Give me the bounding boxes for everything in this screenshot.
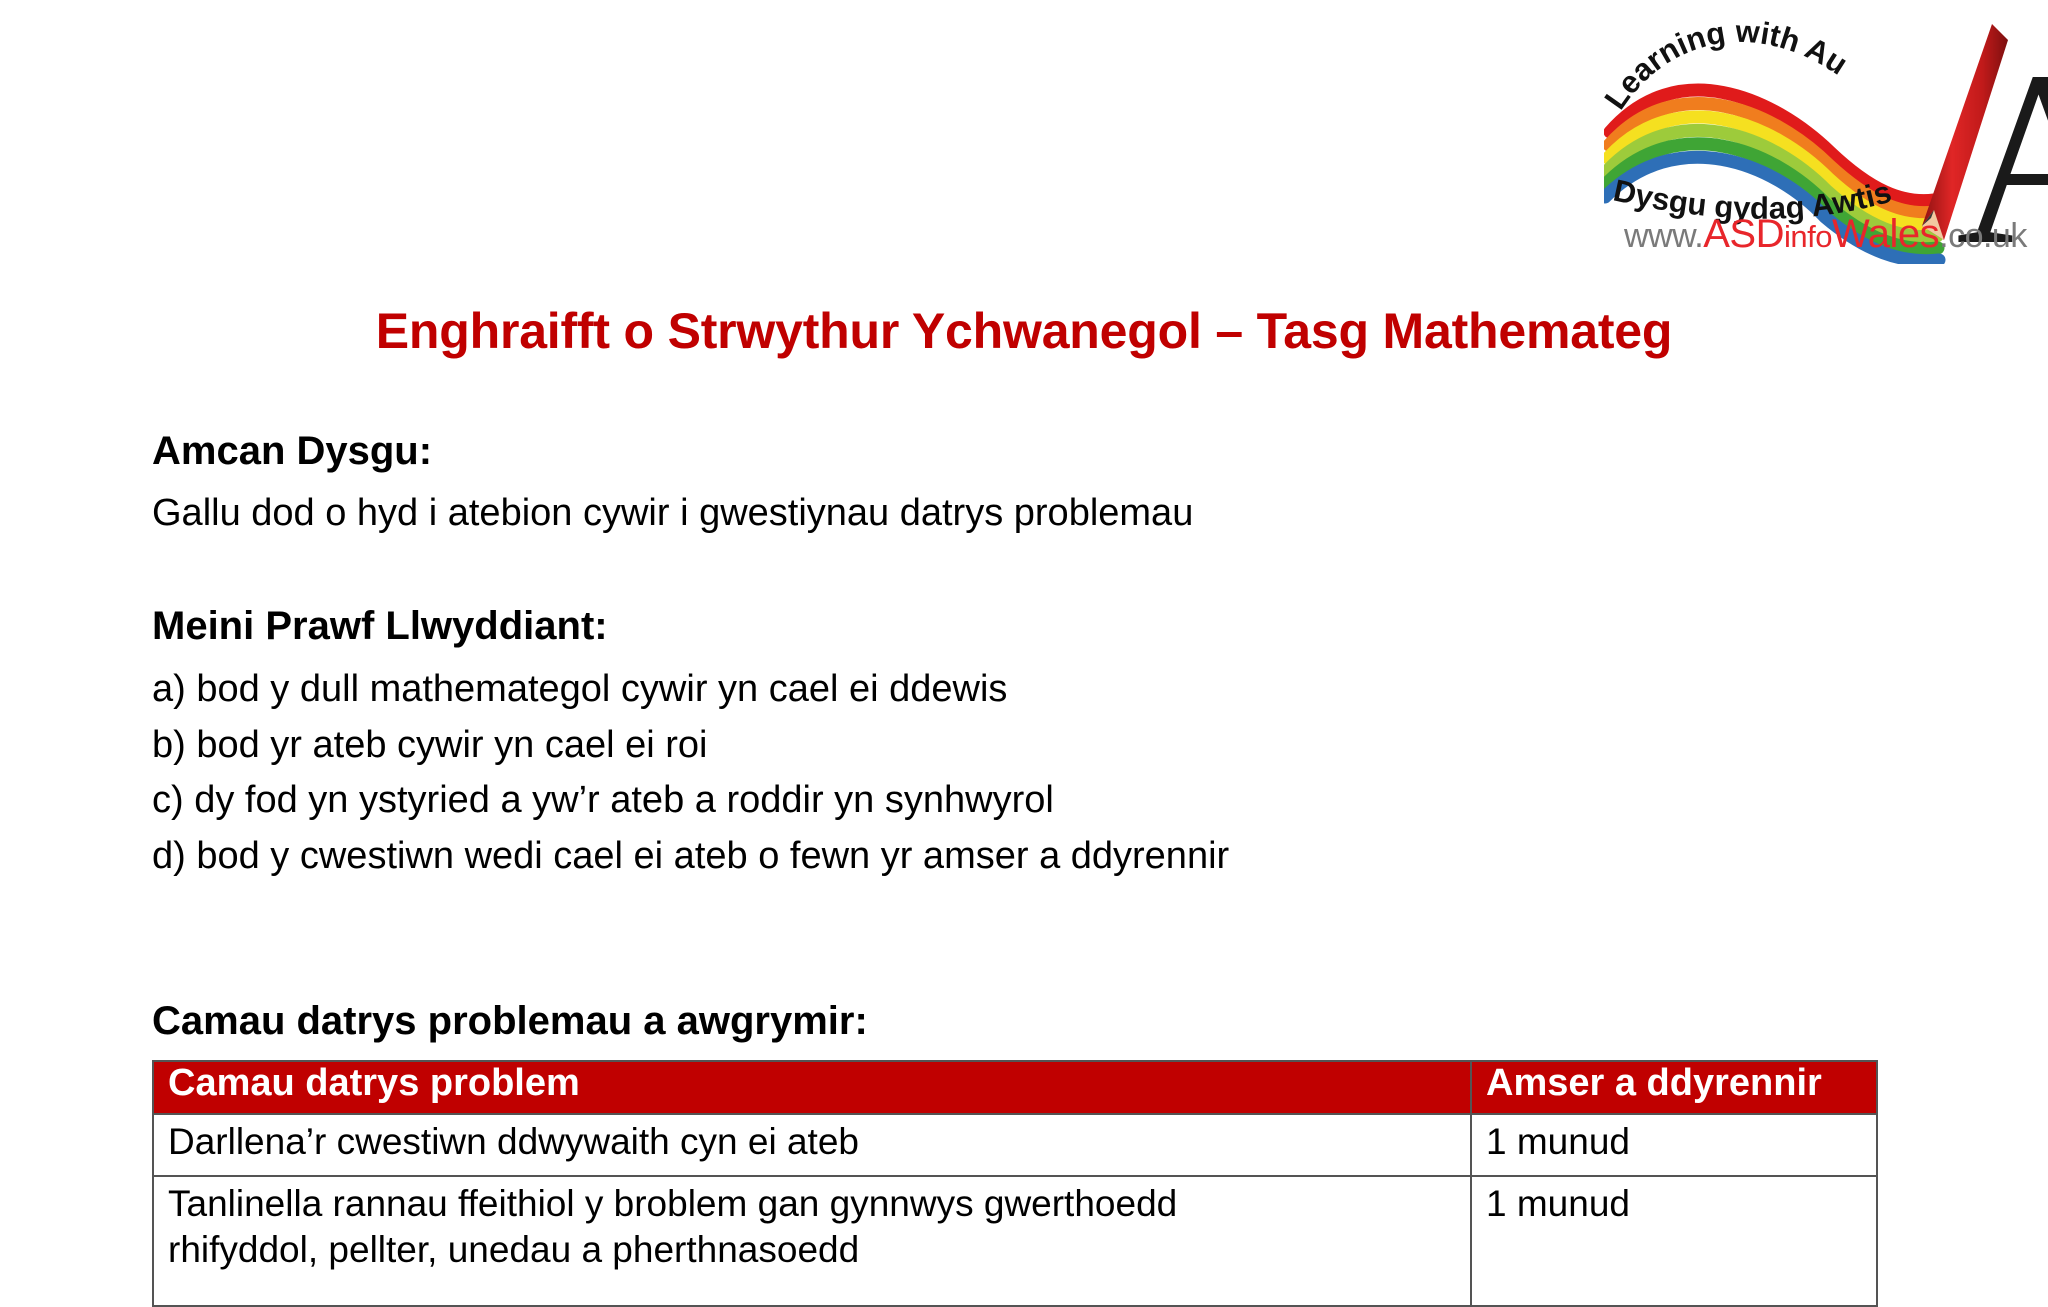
logo-url-prefix: www.	[1624, 217, 1703, 255]
learning-objective-heading: Amcan Dysgu:	[152, 430, 432, 473]
cell-step: Tanlinella rannau ffeithiol y broblem ga…	[153, 1176, 1471, 1306]
table-header-row: Camau datrys problem Amser a ddyrennir	[153, 1061, 1877, 1114]
success-criteria-list: a) bod y dull mathemategol cywir yn cael…	[152, 668, 1229, 890]
steps-section-heading: Camau datrys problemau a awgrymir:	[152, 1000, 868, 1043]
logo-url-brand-wales: Wales	[1832, 212, 1939, 256]
cell-step-line: Darllena’r cwestiwn ddwywaith cyn ei ate…	[168, 1119, 1456, 1165]
page-title: Enghraifft o Strwythur Ychwanegol – Tasg…	[0, 302, 2048, 360]
table-row: Darllena’r cwestiwn ddwywaith cyn ei ate…	[153, 1114, 1877, 1176]
cell-time: 1 munud	[1471, 1114, 1877, 1176]
table-row: Tanlinella rannau ffeithiol y broblem ga…	[153, 1176, 1877, 1306]
column-header-time: Amser a ddyrennir	[1471, 1061, 1877, 1114]
column-header-steps: Camau datrys problem	[153, 1061, 1471, 1114]
logo-url-brand-info: info	[1784, 219, 1832, 254]
logo-url-suffix: .co.uk	[1939, 217, 2027, 255]
asdinfowales-logo: A Learning with Autism Dysgu gydag Awtis…	[1604, 4, 2048, 264]
problem-solving-steps-table: Camau datrys problem Amser a ddyrennir D…	[152, 1060, 1878, 1307]
learning-objective-text: Gallu dod o hyd i atebion cywir i gwesti…	[152, 492, 1193, 535]
criteria-item: d) bod y cwestiwn wedi cael ei ateb o fe…	[152, 835, 1229, 878]
criteria-item: b) bod yr ateb cywir yn cael ei roi	[152, 724, 1229, 767]
criteria-item: c) dy fod yn ystyried a yw’r ateb a rodd…	[152, 779, 1229, 822]
success-criteria-heading: Meini Prawf Llwyddiant:	[152, 605, 608, 648]
criteria-item: a) bod y dull mathemategol cywir yn cael…	[152, 668, 1229, 711]
cell-step: Darllena’r cwestiwn ddwywaith cyn ei ate…	[153, 1114, 1471, 1176]
cell-step-line: Tanlinella rannau ffeithiol y broblem ga…	[168, 1181, 1456, 1227]
cell-time: 1 munud	[1471, 1176, 1877, 1306]
logo-url-line: www.ASDinfoWales.co.uk	[1624, 212, 2048, 257]
logo-url-brand-asd: ASD	[1703, 212, 1784, 256]
cell-step-line: rhifyddol, pellter, unedau a pherthnasoe…	[168, 1227, 1456, 1273]
